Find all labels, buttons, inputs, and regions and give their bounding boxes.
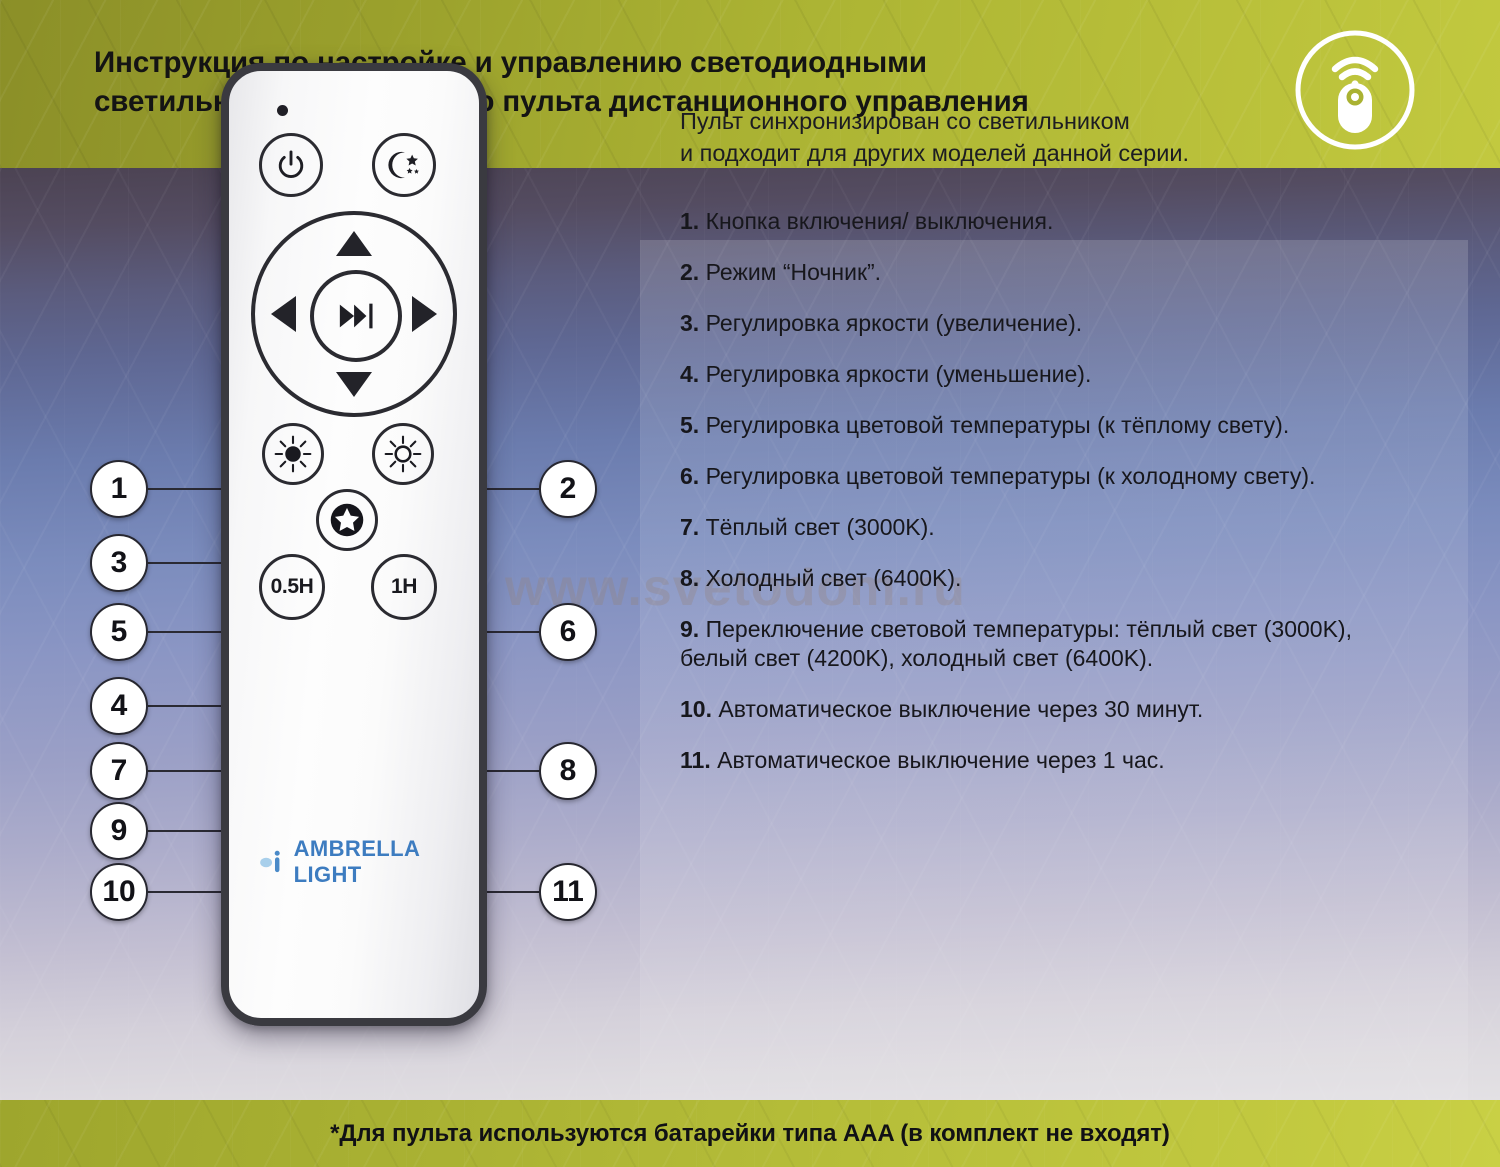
- list-item: 6. Регулировка цветовой температуры (к х…: [680, 462, 1400, 492]
- warm-light-button[interactable]: [262, 423, 324, 485]
- list-item-text: Регулировка яркости (уменьшение).: [706, 361, 1092, 387]
- list-item-number: 6.: [680, 463, 699, 489]
- list-item: 7. Тёплый свет (3000K).: [680, 513, 1400, 543]
- list-item-text: Холодный свет (6400K).: [706, 565, 962, 591]
- sun-outline-icon: [382, 433, 424, 475]
- list-item-text: Автоматическое выключение через 1 час.: [717, 747, 1165, 773]
- moon-stars-icon: [385, 146, 423, 184]
- list-item-number: 10.: [680, 696, 712, 722]
- play-pause-icon: [333, 297, 379, 335]
- triangle-left-icon[interactable]: [271, 296, 296, 332]
- list-item-text: Автоматическое выключение через 30 минут…: [718, 696, 1203, 722]
- callout-10[interactable]: 10: [90, 863, 148, 921]
- power-icon: [273, 147, 309, 183]
- play-pause-button[interactable]: [310, 270, 402, 362]
- star-filled-icon: [325, 498, 369, 542]
- timer-30min-button[interactable]: 0.5H: [259, 554, 325, 620]
- list-item-text: Кнопка включения/ выключения.: [706, 208, 1054, 234]
- list-item: 4. Регулировка яркости (уменьшение).: [680, 360, 1400, 390]
- color-temperature-cycle-button[interactable]: [316, 489, 378, 551]
- list-item: 2. Режим “Ночник”.: [680, 258, 1400, 288]
- list-item-text: Режим “Ночник”.: [706, 259, 882, 285]
- sun-filled-icon: [272, 433, 314, 475]
- intro-line1: Пульт синхронизирован со светильником: [680, 106, 1400, 138]
- callout-8[interactable]: 8: [539, 742, 597, 800]
- night-mode-button[interactable]: [372, 133, 436, 197]
- list-item-text: Регулировка яркости (увеличение).: [706, 310, 1083, 336]
- callout-6[interactable]: 6: [539, 603, 597, 661]
- callout-2[interactable]: 2: [539, 460, 597, 518]
- list-item-number: 9.: [680, 616, 699, 642]
- footer-band: *Для пульта используются батарейки типа …: [0, 1100, 1500, 1167]
- cool-light-button[interactable]: [372, 423, 434, 485]
- list-item-text: Регулировка цветовой температуры (к холо…: [706, 463, 1316, 489]
- list-item: 10. Автоматическое выключение через 30 м…: [680, 695, 1400, 725]
- intro-paragraph: Пульт синхронизирован со светильником и …: [680, 106, 1400, 169]
- list-item-number: 11.: [680, 747, 711, 773]
- remote-control-device: 0.5H 1H AMBRELLA LIGHT: [221, 63, 487, 1026]
- callout-1[interactable]: 1: [90, 460, 148, 518]
- instruction-list: Пульт синхронизирован со светильником и …: [680, 106, 1400, 797]
- ambrella-mark-icon: [255, 848, 285, 877]
- list-item-number: 1.: [680, 208, 699, 234]
- callout-4[interactable]: 4: [90, 677, 148, 735]
- list-item: 9. Переключение световой температуры: тё…: [680, 615, 1400, 675]
- direction-pad: [251, 211, 457, 417]
- list-item-text: Переключение световой температуры: тёплы…: [680, 616, 1352, 672]
- callout-7[interactable]: 7: [90, 742, 148, 800]
- list-item-text: Регулировка цветовой температуры (к тёпл…: [706, 412, 1290, 438]
- battery-note: *Для пульта используются батарейки типа …: [0, 1120, 1500, 1148]
- triangle-right-icon[interactable]: [412, 296, 437, 332]
- list-item: 3. Регулировка яркости (увеличение).: [680, 309, 1400, 339]
- list-item: 1. Кнопка включения/ выключения.: [680, 207, 1400, 237]
- list-item-number: 2.: [680, 259, 699, 285]
- list-item-number: 8.: [680, 565, 699, 591]
- intro-line2: и подходит для других моделей данной сер…: [680, 138, 1400, 170]
- list-item-text: Тёплый свет (3000K).: [706, 514, 935, 540]
- callout-9[interactable]: 9: [90, 802, 148, 860]
- list-item-number: 4.: [680, 361, 699, 387]
- triangle-up-icon[interactable]: [336, 231, 372, 256]
- infographic-page: Инструкция по настройке и управлению све…: [0, 0, 1500, 1167]
- triangle-down-icon[interactable]: [336, 372, 372, 397]
- timer-1h-label: 1H: [391, 575, 417, 599]
- callout-5[interactable]: 5: [90, 603, 148, 661]
- list-item-number: 5.: [680, 412, 699, 438]
- timer-30min-label: 0.5H: [271, 575, 314, 599]
- brand-logo: AMBRELLA LIGHT: [255, 836, 479, 888]
- list-item: 8. Холодный свет (6400K).: [680, 564, 1400, 594]
- list-item-number: 3.: [680, 310, 699, 336]
- callout-11[interactable]: 11: [539, 863, 597, 921]
- brand-name-label: AMBRELLA LIGHT: [294, 836, 479, 888]
- list-item-number: 7.: [680, 514, 699, 540]
- callout-3[interactable]: 3: [90, 534, 148, 592]
- list-item: 5. Регулировка цветовой температуры (к т…: [680, 411, 1400, 441]
- power-button[interactable]: [259, 133, 323, 197]
- list-item: 11. Автоматическое выключение через 1 ча…: [680, 746, 1400, 776]
- timer-1h-button[interactable]: 1H: [371, 554, 437, 620]
- ir-led-indicator: [277, 105, 288, 116]
